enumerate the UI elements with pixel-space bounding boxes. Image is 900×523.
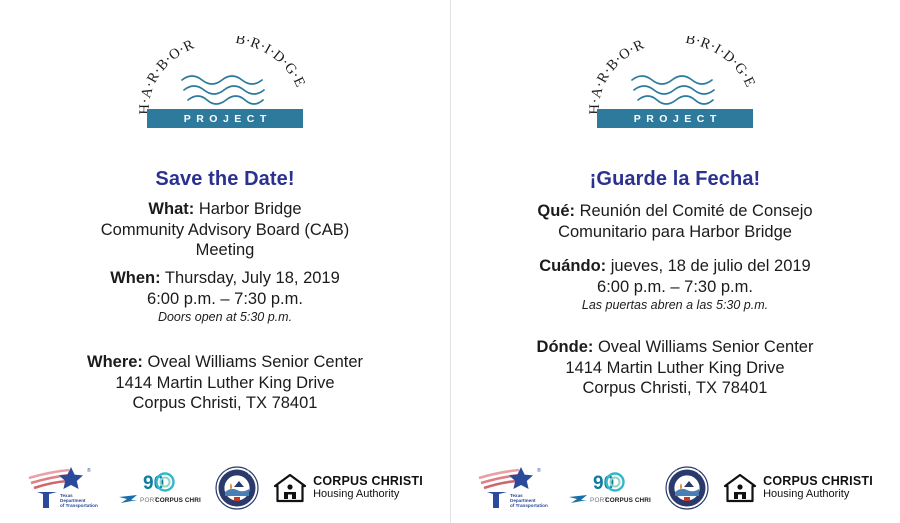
house-with-person-icon — [723, 473, 757, 503]
when-value: Thursday, July 18, 2019 — [165, 269, 340, 287]
logo-project-label: PROJECT — [628, 113, 722, 125]
where-city: Corpus Christi, TX 78401 — [450, 378, 900, 399]
svg-text:H·A·R·B·O·R: H·A·R·B·O·R — [137, 37, 197, 115]
where-street: 1414 Martin Luther King Drive — [450, 358, 900, 379]
corpus-christi-housing-authority-logo: CORPUS CHRISTI Housing Authority — [273, 473, 423, 503]
seal-banner-icon — [684, 497, 690, 501]
where-value: Oveal Williams Senior Center — [148, 353, 363, 371]
when-label: Cuándo: — [539, 257, 606, 275]
harbor-bridge-logo: H·A·R·B·O·R B·R·I·D·G·E PROJECT — [586, 36, 764, 128]
doors-open-note: Las puertas abren a las 5:30 p.m. — [450, 297, 900, 314]
where-label: Where: — [87, 353, 143, 371]
where-label: Dónde: — [537, 338, 594, 356]
txdot-logo: ® Texas Department of Transportation — [27, 465, 103, 511]
when-line-1: Cuándo: jueves, 18 de julio del 2019 — [450, 256, 900, 277]
txdot-line-3: of Transportation — [60, 503, 98, 508]
txdot-logo: ® Texas Department of Transportation — [477, 465, 553, 511]
city-seal-graphic: CITY OF CORPUS CHRISTI TEXAS — [665, 466, 709, 510]
port-word-2: CORPUS CHRISTI — [605, 497, 651, 504]
port-90-anniversary-mark: 90 — [593, 473, 624, 494]
housing-authority-title: CORPUS CHRISTI — [313, 475, 423, 489]
port-wave-mark-icon — [119, 495, 137, 503]
what-line-2: Community Advisory Board (CAB) — [0, 220, 450, 241]
doors-open-note: Doors open at 5:30 p.m. — [0, 309, 450, 326]
txdot-registered-mark: ® — [537, 467, 541, 474]
what-line-1: Qué: Reunión del Comité de Consejo — [450, 201, 900, 222]
when-block-spanish: Cuándo: jueves, 18 de julio del 2019 6:0… — [450, 256, 900, 314]
where-city: Corpus Christi, TX 78401 — [0, 393, 450, 414]
when-label: When: — [110, 269, 160, 287]
what-block-english: What: Harbor Bridge Community Advisory B… — [0, 199, 450, 261]
city-seal-graphic: CITY OF CORPUS CHRISTI TEXAS — [215, 466, 259, 510]
page-title-spanish: ¡Guarde la Fecha! — [450, 168, 900, 191]
txdot-registered-mark: ® — [87, 467, 91, 474]
logo-arc-left-text: H·A·R·B·O·R — [137, 37, 197, 115]
when-line-1: When: Thursday, July 18, 2019 — [0, 268, 450, 289]
svg-text:H·A·R·B·O·R: H·A·R·B·O·R — [587, 37, 647, 115]
harbor-bridge-logo-english: H·A·R·B·O·R B·R·I·D·G·E PROJECT — [0, 36, 450, 128]
logo-project-bar: PROJECT — [147, 109, 303, 128]
spanish-panel: H·A·R·B·O·R B·R·I·D·G·E PROJECT ¡Guarde — [450, 0, 900, 523]
logo-project-label: PROJECT — [178, 113, 272, 125]
what-line-3: Meeting — [0, 240, 450, 261]
where-value: Oveal Williams Senior Center — [598, 338, 813, 356]
housing-authority-subtitle: Housing Authority — [763, 489, 873, 501]
txdot-logo-graphic: ® Texas Department of Transportation — [27, 465, 103, 511]
seal-banner-icon — [234, 497, 240, 501]
port-corpus-christi-logo: 90 PORT CORPUS CHRISTI — [567, 467, 651, 509]
house-with-person-icon — [273, 473, 307, 503]
what-label: Qué: — [537, 202, 575, 220]
what-block-spanish: Qué: Reunión del Comité de Consejo Comun… — [450, 201, 900, 242]
housing-authority-title: CORPUS CHRISTI — [763, 475, 873, 489]
when-time: 6:00 p.m. – 7:30 p.m. — [450, 277, 900, 298]
housing-authority-subtitle: Housing Authority — [313, 489, 423, 501]
where-block-english: Where: Oveal Williams Senior Center 1414… — [0, 352, 450, 414]
where-line-1: Where: Oveal Williams Senior Center — [0, 352, 450, 373]
housing-authority-text: CORPUS CHRISTI Housing Authority — [313, 475, 423, 500]
wave-lines-icon — [182, 76, 264, 104]
when-time: 6:00 p.m. – 7:30 p.m. — [0, 289, 450, 310]
wave-lines-icon — [632, 76, 714, 104]
what-value: Reunión del Comité de Consejo — [580, 202, 813, 220]
what-label: What: — [148, 200, 194, 218]
what-line-2: Comunitario para Harbor Bridge — [450, 222, 900, 243]
port-90-anniversary-mark: 90 — [143, 473, 174, 494]
city-of-corpus-christi-seal: CITY OF CORPUS CHRISTI TEXAS — [215, 466, 259, 510]
logo-arc-left-text: H·A·R·B·O·R — [587, 37, 647, 115]
english-panel: H·A·R·B·O·R B·R·I·D·G·E PROJECT Save the — [0, 0, 450, 523]
where-line-1: Dónde: Oveal Williams Senior Center — [450, 337, 900, 358]
what-value: Harbor Bridge — [199, 200, 302, 218]
logo-project-bar: PROJECT — [597, 109, 753, 128]
txdot-line-3: of Transportation — [510, 503, 548, 508]
harbor-bridge-logo: H·A·R·B·O·R B·R·I·D·G·E PROJECT — [136, 36, 314, 128]
txdot-t-icon — [487, 492, 507, 508]
port-wave-mark-icon — [569, 495, 587, 503]
port-corpus-christi-logo: 90 PORT CORPUS CHRISTI — [117, 467, 201, 509]
partner-logos-english: ® Texas Department of Transportation 90 … — [0, 465, 450, 511]
harbor-bridge-logo-spanish: H·A·R·B·O·R B·R·I·D·G·E PROJECT — [450, 36, 900, 128]
what-line-1: What: Harbor Bridge — [0, 199, 450, 220]
port-word-2: CORPUS CHRISTI — [155, 497, 201, 504]
partner-logos-spanish: ® Texas Department of Transportation 90 … — [450, 465, 900, 511]
where-block-spanish: Dónde: Oveal Williams Senior Center 1414… — [450, 337, 900, 399]
corpus-christi-housing-authority-logo: CORPUS CHRISTI Housing Authority — [723, 473, 873, 503]
page-title-english: Save the Date! — [0, 168, 450, 191]
where-street: 1414 Martin Luther King Drive — [0, 373, 450, 394]
housing-authority-text: CORPUS CHRISTI Housing Authority — [763, 475, 873, 500]
port-logo-graphic: 90 PORT CORPUS CHRISTI — [117, 467, 201, 509]
save-the-date-flyer: H·A·R·B·O·R B·R·I·D·G·E PROJECT Save the — [0, 0, 900, 523]
txdot-t-icon — [37, 492, 57, 508]
when-block-english: When: Thursday, July 18, 2019 6:00 p.m. … — [0, 268, 450, 326]
city-of-corpus-christi-seal: CITY OF CORPUS CHRISTI TEXAS — [665, 466, 709, 510]
txdot-logo-graphic: ® Texas Department of Transportation — [477, 465, 553, 511]
port-logo-graphic: 90 PORT CORPUS CHRISTI — [567, 467, 651, 509]
when-value: jueves, 18 de julio del 2019 — [611, 257, 811, 275]
